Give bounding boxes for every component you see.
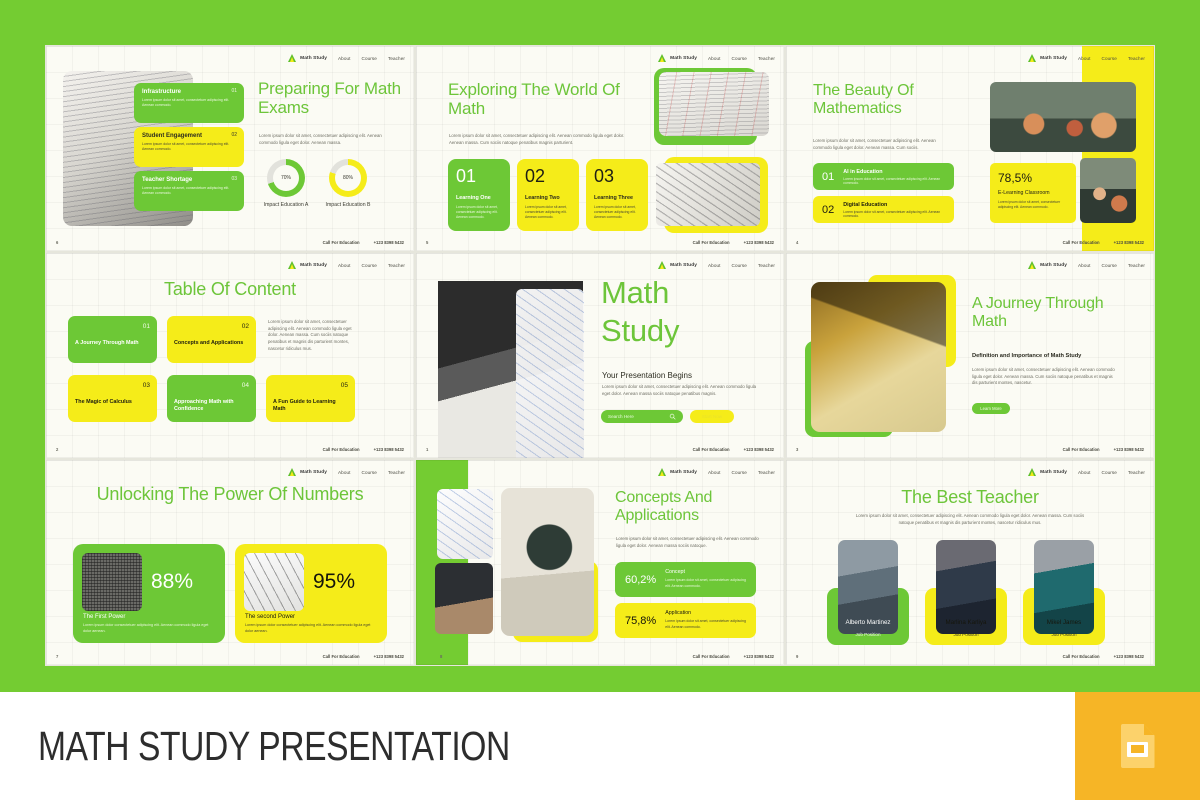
toc-description: Lorem ipsum dolor sit amet, consectetuer… xyxy=(268,319,361,352)
brand-label: Math Study xyxy=(1040,56,1067,61)
row-number: 02 xyxy=(822,204,834,216)
brand: Math Study xyxy=(288,468,327,476)
logo-triangle-icon xyxy=(288,54,297,62)
step-number: 02 xyxy=(525,167,571,185)
nav-item-course[interactable]: Course xyxy=(362,470,377,475)
row-label: AI in Education xyxy=(843,169,945,175)
classroom-photo xyxy=(990,82,1136,152)
toc-label: The Magic of Calculus xyxy=(75,399,150,406)
stat-value: 78,5% xyxy=(998,171,1068,185)
nav-item-about[interactable]: About xyxy=(1078,263,1091,268)
page-number: 8 xyxy=(440,654,442,659)
donut-caption: Impact Education A xyxy=(262,202,310,209)
slide-concepts-and-applications[interactable]: Math Study About Course Teacher Concepts… xyxy=(415,459,785,666)
teacher-role: Job Position xyxy=(925,632,1007,637)
lab-photo xyxy=(435,563,493,634)
page-number: 6 xyxy=(56,240,58,245)
slide-the-beauty-of-mathematics[interactable]: Math Study About Course Teacher The Beau… xyxy=(785,45,1155,252)
nav-item-course[interactable]: Course xyxy=(1102,263,1117,268)
footer-phone: +123 8398 5432 xyxy=(374,240,404,245)
classroom-photo-secondary xyxy=(1080,158,1136,223)
learn-more-button[interactable]: Learn More xyxy=(972,403,1010,414)
slide-body: Lorem ipsum dolor sit amet, consectetuer… xyxy=(449,133,634,146)
start-now-label: Start Now xyxy=(702,414,722,419)
nav-item-teacher[interactable]: Teacher xyxy=(388,263,405,268)
footer-phone: +123 8398 5432 xyxy=(1114,654,1144,659)
stat-row-concept: 60,2% Concept Lorem ipsum dolor sit amet… xyxy=(615,562,756,597)
power-label: The First Power xyxy=(83,614,125,620)
toc-number: 01 xyxy=(75,323,150,330)
slide-body: Lorem ipsum dolor sit amet, consectetuer… xyxy=(813,138,953,151)
teacher-card-3[interactable]: Mikel James Job Position xyxy=(1023,588,1105,645)
slide-body: Lorem ipsum dolor sit amet, consectetuer… xyxy=(848,513,1092,526)
step-desc: Lorem ipsum dolor sit amet, consectetuer… xyxy=(525,205,571,220)
card-desc: Lorem ipsum dolor sit amet, consectetuer… xyxy=(142,142,236,153)
slide-nav[interactable]: Math Study About Course Teacher xyxy=(1028,261,1145,269)
footer-label: Call For Education xyxy=(1063,654,1100,659)
stat-value: 75,8% xyxy=(625,615,656,627)
nav-item-course[interactable]: Course xyxy=(362,56,377,61)
graph-paper-photo xyxy=(516,289,584,459)
nav-item-about[interactable]: About xyxy=(1078,470,1091,475)
slide-footer: 3 Call For Education +123 8398 5432 xyxy=(796,447,1144,452)
step-number: 01 xyxy=(456,167,502,185)
page-number: 7 xyxy=(56,654,58,659)
calculator-pen-photo xyxy=(811,282,946,432)
slide-footer: 1 Call For Education +123 8398 5432 xyxy=(426,447,774,452)
slide-nav[interactable]: Math Study About Course Teacher xyxy=(658,468,775,476)
slide-title: The Beauty Of Mathematics xyxy=(813,82,963,118)
page-number: 4 xyxy=(796,240,798,245)
brand: Math Study xyxy=(658,468,697,476)
presentation-preview-page: Math Study About Course Teacher 01 Infra… xyxy=(0,0,1200,800)
slide-nav[interactable]: Math Study About Course Teacher xyxy=(288,54,405,62)
brand-label: Math Study xyxy=(1040,263,1067,268)
footer-phone: +123 8398 5432 xyxy=(744,240,774,245)
card-label: Infrastructure xyxy=(142,89,236,95)
card-label: Teacher Shortage xyxy=(142,177,236,183)
bottom-banner: MATH STUDY PRESENTATION xyxy=(0,692,1200,800)
stat-desc: Lorem ipsum dolor sit amet, consectetuer… xyxy=(665,619,746,630)
brand-label: Math Study xyxy=(300,56,327,61)
donut-value: 70% xyxy=(281,175,291,181)
toc-label: A Journey Through Math xyxy=(75,340,150,347)
stat-row-application: 75,8% Application Lorem ipsum dolor sit … xyxy=(615,603,756,638)
logo-triangle-icon xyxy=(288,261,297,269)
list-row-digital-education[interactable]: 02 Digital Education Lorem ipsum dolor s… xyxy=(813,196,954,223)
nav-item-teacher[interactable]: Teacher xyxy=(758,470,775,475)
slide-footer: 7 Call For Education +123 8398 5432 xyxy=(56,654,404,659)
slide-nav[interactable]: Math Study About Course Teacher xyxy=(658,54,775,62)
row-number: 01 xyxy=(822,171,834,183)
page-number: 2 xyxy=(56,447,58,452)
nav-item-teacher[interactable]: Teacher xyxy=(758,56,775,61)
toc-label: Approaching Math with Confidence xyxy=(174,399,249,414)
logo-triangle-icon xyxy=(1028,261,1037,269)
learn-more-label: Learn More xyxy=(980,406,1001,411)
nav-item-teacher[interactable]: Teacher xyxy=(1128,56,1145,61)
toc-number: 02 xyxy=(174,323,249,330)
teacher-name: Marlina Karliya xyxy=(925,619,1007,626)
brand: Math Study xyxy=(658,261,697,269)
logo-triangle-icon xyxy=(658,54,667,62)
nav-item-teacher[interactable]: Teacher xyxy=(388,470,405,475)
toc-label: Concepts and Applications xyxy=(174,340,249,347)
donut-chart-education-b: 80% Impact Education B xyxy=(324,159,372,209)
card-desc: Lorem ipsum dolor sit amet, consectetuer… xyxy=(142,186,236,197)
row-label: Digital Education xyxy=(843,202,945,208)
footer-label: Call For Education xyxy=(693,654,730,659)
google-slides-badge xyxy=(1075,692,1200,800)
student-photo xyxy=(501,488,594,636)
nav-item-course[interactable]: Course xyxy=(732,263,747,268)
footer-label: Call For Education xyxy=(693,240,730,245)
nav-item-course[interactable]: Course xyxy=(732,470,747,475)
search-placeholder: Search Here xyxy=(608,414,634,419)
stat-desc: Lorem ipsum dolor sit amet, consectetuer… xyxy=(998,200,1068,210)
slide-footer: 9 Call For Education +123 8398 5432 xyxy=(796,654,1144,659)
card-desc: Lorem ipsum dolor sit amet, consectetuer… xyxy=(142,98,236,109)
slide-title: Table Of Content xyxy=(46,279,414,299)
power-value: 95% xyxy=(313,570,355,594)
toc-label: A Fun Guide to Learning Math xyxy=(273,399,348,414)
slide-nav[interactable]: Math Study About Course Teacher xyxy=(1028,468,1145,476)
stat-label: Application xyxy=(665,610,746,616)
formula-photo xyxy=(656,163,760,226)
donut-value: 80% xyxy=(343,175,353,181)
slide-footer: 2 Call For Education +123 8398 5432 xyxy=(56,447,404,452)
card-number: 02 xyxy=(231,132,237,138)
step-card-01[interactable]: 01 Learning One Lorem ipsum dolor sit am… xyxy=(448,159,510,231)
brand: Math Study xyxy=(1028,261,1067,269)
slide-body: Lorem ipsum dolor sit amet, consectetuer… xyxy=(616,536,759,549)
logo-triangle-icon xyxy=(1028,54,1037,62)
footer-phone: +123 8398 5432 xyxy=(374,447,404,452)
power-desc: Lorem ipsum dolor consectetuer adipiscin… xyxy=(83,623,213,635)
nav-item-course[interactable]: Course xyxy=(732,56,747,61)
brand-label: Math Study xyxy=(670,263,697,268)
slide-table-of-content[interactable]: Math Study About Course Teacher Table Of… xyxy=(45,252,415,459)
footer-phone: +123 8398 5432 xyxy=(1114,240,1144,245)
slide-nav[interactable]: Math Study About Course Teacher xyxy=(1028,54,1145,62)
cover-subtitle: Your Presentation Begins xyxy=(602,371,692,380)
card-number: 03 xyxy=(231,176,237,182)
nav-item-about[interactable]: About xyxy=(708,263,721,268)
nav-item-teacher[interactable]: Teacher xyxy=(758,263,775,268)
power-label: The second Power xyxy=(245,614,295,620)
page-number: 5 xyxy=(426,240,428,245)
power-desc: Lorem ipsum dolor consectetuer adipiscin… xyxy=(245,623,375,635)
slide-footer: 5 Call For Education +123 8398 5432 xyxy=(426,240,774,245)
footer-label: Call For Education xyxy=(1063,240,1100,245)
footer-phone: +123 8398 5432 xyxy=(744,654,774,659)
donut-chart-education-a: 70% Impact Education A xyxy=(262,159,310,209)
slide-subtitle: Definition and Importance of Math Study xyxy=(972,353,1122,359)
slide-nav[interactable]: Math Study About Course Teacher xyxy=(288,468,405,476)
row-desc: Lorem ipsum dolor sit amet, consectetuer… xyxy=(843,210,945,218)
slide-a-journey-through-math[interactable]: Math Study About Course Teacher A Journe… xyxy=(785,252,1155,459)
slide-title: Unlocking The Power Of Numbers xyxy=(88,484,372,504)
step-card-03[interactable]: 03 Learning Three Lorem ipsum dolor sit … xyxy=(586,159,648,231)
green-stage: Math Study About Course Teacher 01 Infra… xyxy=(0,0,1200,692)
step-label: Learning Two xyxy=(525,195,571,201)
logo-triangle-icon xyxy=(658,261,667,269)
nav-item-teacher[interactable]: Teacher xyxy=(1128,470,1145,475)
step-label: Learning Three xyxy=(594,195,640,201)
logo-triangle-icon xyxy=(1028,468,1037,476)
brand: Math Study xyxy=(658,54,697,62)
stat-desc: Lorem ipsum dolor sit amet, consectetuer… xyxy=(665,578,746,589)
feature-card-student-engagement[interactable]: 02 Student Engagement Lorem ipsum dolor … xyxy=(134,127,244,167)
step-desc: Lorem ipsum dolor sit amet, consectetuer… xyxy=(456,205,502,220)
footer-label: Call For Education xyxy=(323,447,360,452)
brand: Math Study xyxy=(288,261,327,269)
footer-label: Call For Education xyxy=(1063,447,1100,452)
cover-title-line2: Study xyxy=(601,315,679,346)
slide-title: The Best Teacher xyxy=(786,487,1154,507)
teacher-role: Job Position xyxy=(1023,632,1105,637)
nav-item-about[interactable]: About xyxy=(338,263,351,268)
power-value: 88% xyxy=(151,570,193,594)
slide-title: Preparing For Math Exams xyxy=(258,79,408,117)
list-row-ai-in-education[interactable]: 01 AI in Education Lorem ipsum dolor sit… xyxy=(813,163,954,190)
brand-label: Math Study xyxy=(670,56,697,61)
search-input[interactable]: Search Here xyxy=(601,410,683,423)
toc-card-04[interactable]: 04 Approaching Math with Confidence xyxy=(167,375,256,422)
slide-footer: 6 Call For Education +123 8398 5432 xyxy=(56,240,404,245)
brand: Math Study xyxy=(1028,54,1067,62)
toc-card-03[interactable]: 03 The Magic of Calculus xyxy=(68,375,157,422)
slide-title: A Journey Through Math xyxy=(972,295,1122,331)
nav-item-about[interactable]: About xyxy=(338,470,351,475)
search-icon xyxy=(669,413,676,420)
toc-number: 04 xyxy=(174,382,249,389)
teacher-name: Alberto Martinez xyxy=(827,619,909,626)
mindmap-photo xyxy=(437,489,493,559)
toc-card-01[interactable]: 01 A Journey Through Math xyxy=(68,316,157,363)
toc-card-05[interactable]: 05 A Fun Guide to Learning Math xyxy=(266,375,355,422)
whiteboard-photo xyxy=(244,553,304,611)
banner-title: MATH STUDY PRESENTATION xyxy=(38,723,510,770)
brand-label: Math Study xyxy=(670,470,697,475)
footer-label: Call For Education xyxy=(693,447,730,452)
page-number: 3 xyxy=(796,447,798,452)
slide-grid: Math Study About Course Teacher 01 Infra… xyxy=(45,45,1155,667)
stat-label: Concept xyxy=(665,569,746,575)
slide-math-study-cover[interactable]: Math Study About Course Teacher Math Stu… xyxy=(415,252,785,459)
power-card-second: 95% The second Power Lorem ipsum dolor c… xyxy=(235,544,387,643)
step-card-02[interactable]: 02 Learning Two Lorem ipsum dolor sit am… xyxy=(517,159,579,231)
nav-item-course[interactable]: Course xyxy=(1102,470,1117,475)
cover-title-line1: Math xyxy=(601,277,669,308)
step-number: 03 xyxy=(594,167,640,185)
stat-value: 60,2% xyxy=(625,574,656,586)
slide-title: Concepts And Applications xyxy=(615,489,760,525)
math-notes-photo xyxy=(659,72,769,136)
nav-item-about[interactable]: About xyxy=(338,56,351,61)
slide-unlocking-the-power-of-numbers[interactable]: Math Study About Course Teacher Unlockin… xyxy=(45,459,415,666)
brand-label: Math Study xyxy=(300,263,327,268)
slide-footer: 4 Call For Education +123 8398 5432 xyxy=(796,240,1144,245)
nav-item-about[interactable]: About xyxy=(708,56,721,61)
slide-nav[interactable]: Math Study About Course Teacher xyxy=(658,261,775,269)
page-number: 1 xyxy=(426,447,428,452)
slide-the-best-teacher[interactable]: Math Study About Course Teacher The Best… xyxy=(785,459,1155,666)
page-number: 9 xyxy=(796,654,798,659)
row-desc: Lorem ipsum dolor sit amet, consectetuer… xyxy=(843,177,945,185)
brand: Math Study xyxy=(288,54,327,62)
logo-triangle-icon xyxy=(288,468,297,476)
feature-card-infrastructure[interactable]: 01 Infrastructure Lorem ipsum dolor sit … xyxy=(134,83,244,123)
teacher-card-1[interactable]: Alberto Martinez Job Position xyxy=(827,588,909,645)
nav-item-about[interactable]: About xyxy=(1078,56,1091,61)
slide-body: Lorem ipsum dolor sit amet, consectetuer… xyxy=(972,367,1115,387)
slide-exploring-the-world-of-math[interactable]: Math Study About Course Teacher Explorin… xyxy=(415,45,785,252)
brand-label: Math Study xyxy=(300,470,327,475)
teacher-role: Job Position xyxy=(827,632,909,637)
nav-item-course[interactable]: Course xyxy=(362,263,377,268)
card-number: 01 xyxy=(231,88,237,94)
cover-body: Lorem ipsum dolor sit amet, consectetuer… xyxy=(602,384,762,397)
slide-title: Exploring The World Of Math xyxy=(448,80,648,118)
slide-preparing-for-math-exams[interactable]: Math Study About Course Teacher 01 Infra… xyxy=(45,45,415,252)
footer-label: Call For Education xyxy=(323,240,360,245)
nav-item-teacher[interactable]: Teacher xyxy=(1128,263,1145,268)
feature-card-teacher-shortage[interactable]: 03 Teacher Shortage Lorem ipsum dolor si… xyxy=(134,171,244,211)
power-card-first: 88% The First Power Lorem ipsum dolor co… xyxy=(73,544,225,643)
chalkboard-photo xyxy=(82,553,142,611)
slide-footer: 8 Call For Education +123 8398 5432 xyxy=(440,654,774,659)
logo-triangle-icon xyxy=(658,468,667,476)
start-now-button[interactable]: Start Now xyxy=(690,410,734,423)
stat-card-elearning: 78,5% E-Learning Classroom Lorem ipsum d… xyxy=(990,163,1076,223)
footer-phone: +123 8398 5432 xyxy=(374,654,404,659)
stat-label: E-Learning Classroom xyxy=(998,190,1068,196)
google-slides-icon xyxy=(1121,724,1155,768)
slide-nav[interactable]: Math Study About Course Teacher xyxy=(288,261,405,269)
footer-phone: +123 8398 5432 xyxy=(744,447,774,452)
toc-card-02[interactable]: 02 Concepts and Applications xyxy=(167,316,256,363)
nav-item-course[interactable]: Course xyxy=(1102,56,1117,61)
teacher-name: Mikel James xyxy=(1023,619,1105,626)
step-desc: Lorem ipsum dolor sit amet, consectetuer… xyxy=(594,205,640,220)
toc-number: 05 xyxy=(273,382,348,389)
card-label: Student Engagement xyxy=(142,133,236,139)
nav-item-teacher[interactable]: Teacher xyxy=(388,56,405,61)
slide-body: Lorem ipsum dolor sit amet, consectetuer… xyxy=(259,133,399,146)
toc-number: 03 xyxy=(75,382,150,389)
footer-label: Call For Education xyxy=(323,654,360,659)
footer-phone: +123 8398 5432 xyxy=(1114,447,1144,452)
step-label: Learning One xyxy=(456,195,502,201)
teacher-card-2[interactable]: Marlina Karliya Job Position xyxy=(925,588,1007,645)
brand-label: Math Study xyxy=(1040,470,1067,475)
donut-caption: Impact Education B xyxy=(324,202,372,209)
brand: Math Study xyxy=(1028,468,1067,476)
nav-item-about[interactable]: About xyxy=(708,470,721,475)
